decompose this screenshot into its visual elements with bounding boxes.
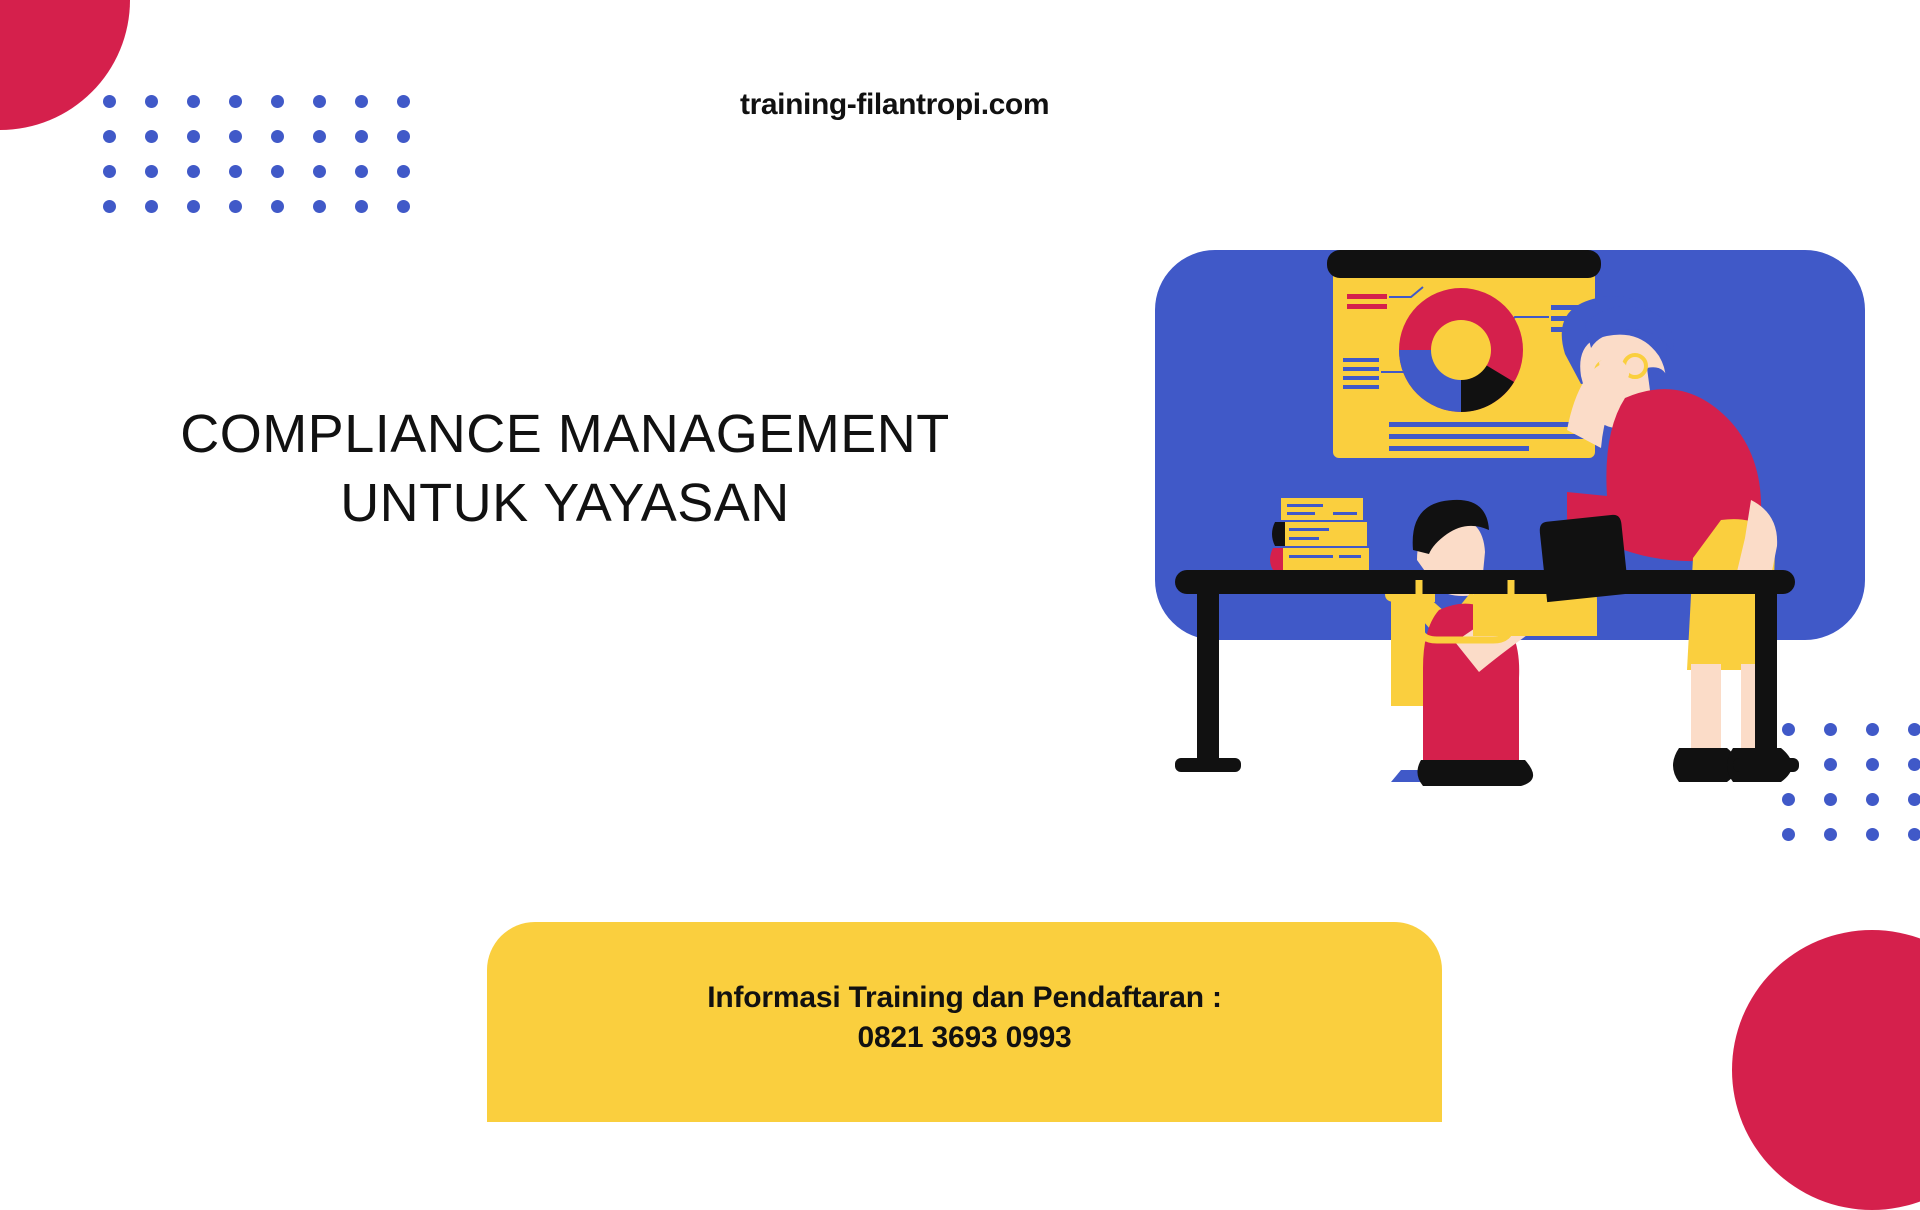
decor-dot xyxy=(103,200,116,213)
decor-dot xyxy=(271,95,284,108)
decor-dot xyxy=(355,95,368,108)
decor-dot xyxy=(271,165,284,178)
decor-dot xyxy=(1866,828,1879,841)
decor-dot xyxy=(1866,723,1879,736)
decor-dot xyxy=(145,165,158,178)
page-title: COMPLIANCE MANAGEMENT UNTUK YAYASAN xyxy=(60,400,1070,538)
decor-dot xyxy=(1866,758,1879,771)
decor-dot xyxy=(145,200,158,213)
decor-dot xyxy=(1908,723,1920,736)
decor-dot xyxy=(229,200,242,213)
decor-dot xyxy=(271,200,284,213)
decor-dot xyxy=(229,165,242,178)
decor-circle-bottom-right xyxy=(1732,930,1920,1210)
decor-dot xyxy=(229,95,242,108)
book-stack xyxy=(1270,498,1369,570)
decor-dot xyxy=(187,165,200,178)
decor-dot xyxy=(1908,793,1920,806)
donut-chart xyxy=(1399,288,1523,412)
decor-dot xyxy=(103,165,116,178)
cta-banner: Informasi Training dan Pendaftaran : 082… xyxy=(487,922,1442,1122)
decor-dot xyxy=(229,130,242,143)
decor-dot xyxy=(145,95,158,108)
decor-dot xyxy=(355,130,368,143)
decor-dot xyxy=(397,95,410,108)
presentation-board xyxy=(1327,250,1601,458)
headline-line-2: UNTUK YAYASAN xyxy=(60,469,1070,538)
decor-dot xyxy=(313,165,326,178)
decor-dot xyxy=(187,130,200,143)
decor-dot xyxy=(397,200,410,213)
decor-dot xyxy=(187,95,200,108)
decor-dot xyxy=(355,165,368,178)
site-url: training-filantropi.com xyxy=(740,88,1049,122)
cta-text: Informasi Training dan Pendaftaran : 082… xyxy=(487,978,1442,1057)
headline-line-1: COMPLIANCE MANAGEMENT xyxy=(60,400,1070,469)
decor-dot xyxy=(1866,793,1879,806)
decor-dot xyxy=(1782,828,1795,841)
business-presentation-illustration xyxy=(1155,250,1865,820)
decor-dot xyxy=(145,130,158,143)
cta-line-1: Informasi Training dan Pendaftaran : xyxy=(487,978,1442,1018)
decor-dot xyxy=(1824,828,1837,841)
decor-dot xyxy=(397,130,410,143)
decor-dot xyxy=(271,130,284,143)
decor-dot xyxy=(187,200,200,213)
decor-dot-grid-left xyxy=(103,95,410,213)
decor-dot xyxy=(355,200,368,213)
decor-dot xyxy=(397,165,410,178)
decor-dot xyxy=(103,95,116,108)
decor-dot xyxy=(313,200,326,213)
decor-dot xyxy=(103,130,116,143)
cta-phone-number[interactable]: 0821 3693 0993 xyxy=(487,1018,1442,1058)
decor-dot xyxy=(313,130,326,143)
decor-dot xyxy=(1908,828,1920,841)
decor-dot xyxy=(1908,758,1920,771)
decor-dot xyxy=(313,95,326,108)
